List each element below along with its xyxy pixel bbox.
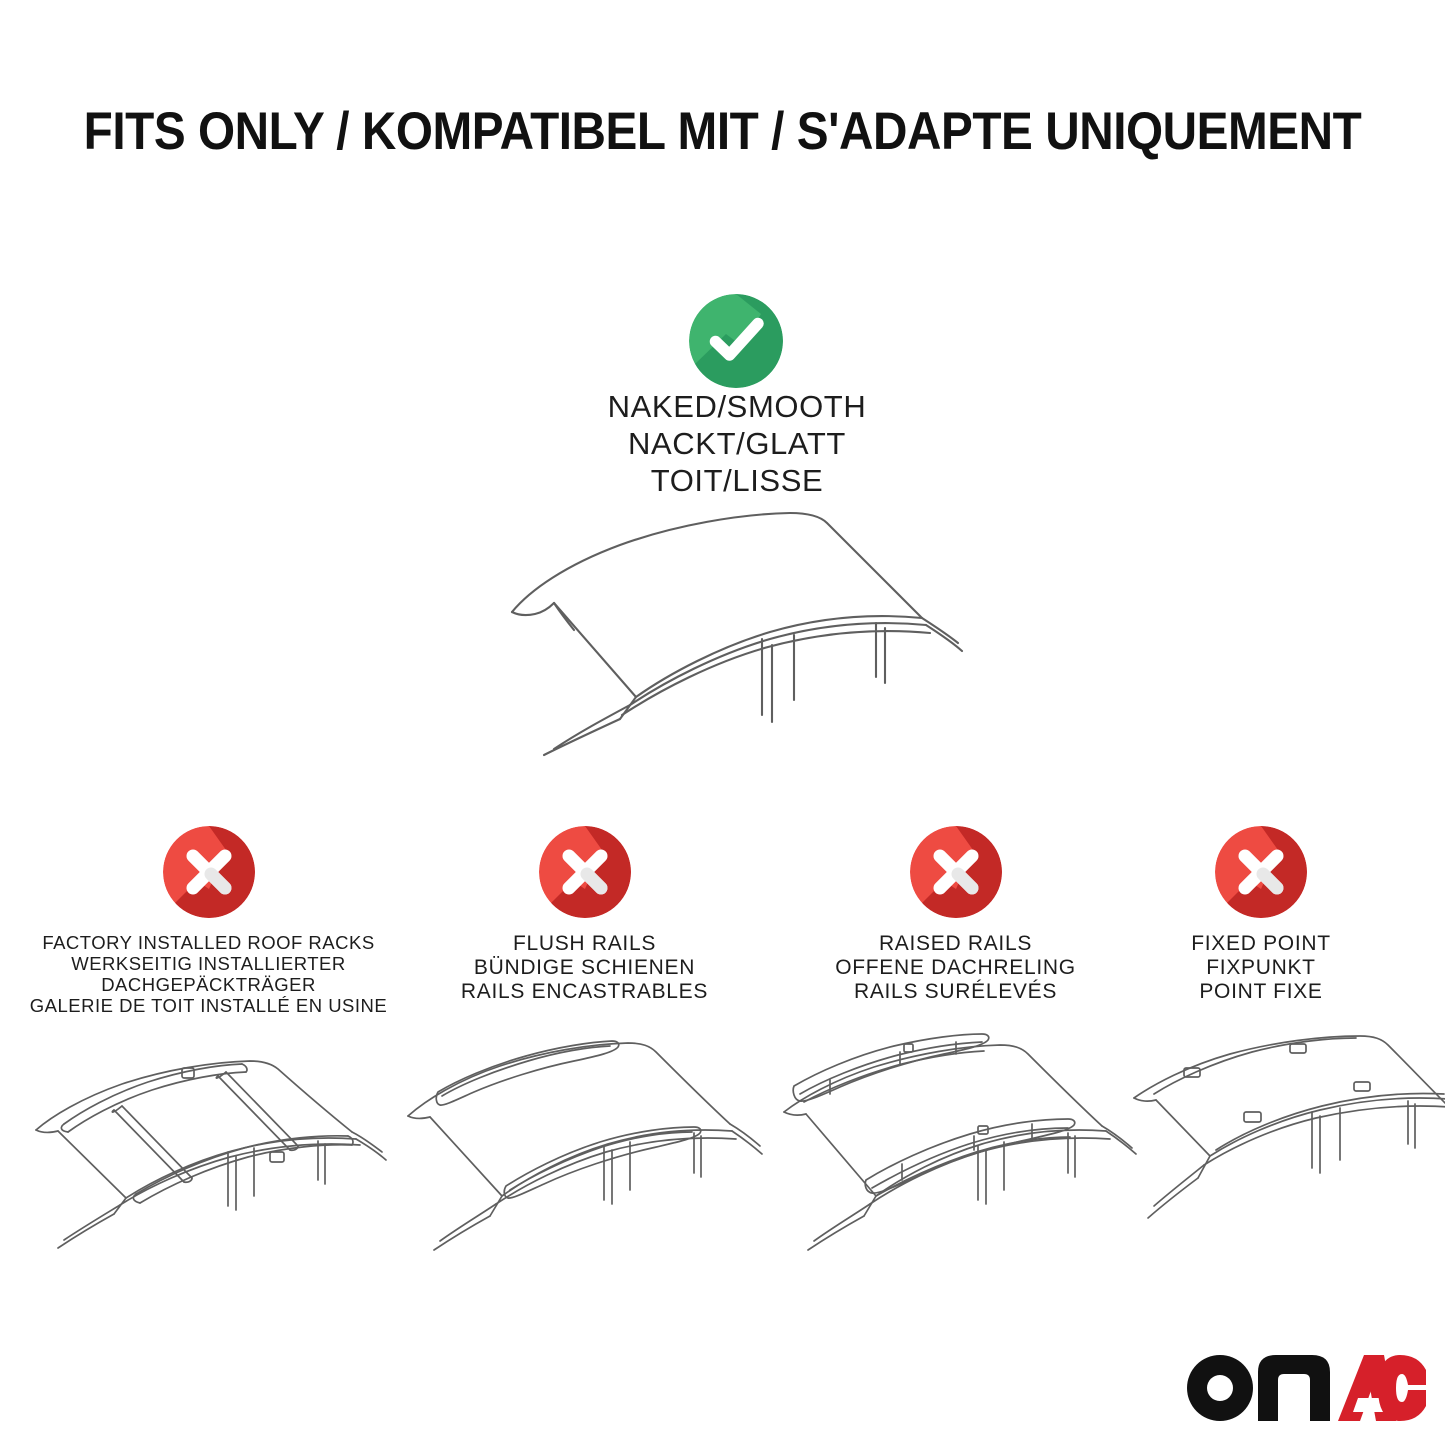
incompatible-item-factory-roof-racks: FACTORY INSTALLED ROOF RACKS WERKSEITIG …	[28, 826, 389, 1016]
omac-logo-svg	[1186, 1352, 1426, 1424]
logo-letter-o	[1187, 1355, 1253, 1421]
cross-circle-icon	[910, 826, 1002, 918]
incompatible-labels: RAISED RAILS OFFENE DACHRELING RAILS SUR…	[775, 932, 1136, 1004]
incompatible-label-en: FACTORY INSTALLED ROOF RACKS	[28, 932, 389, 953]
incompatible-label-fr: RAILS SURÉLEVÉS	[775, 980, 1136, 1004]
incompatible-label-de: FIXPUNKT	[1096, 956, 1426, 980]
cross-circle-icon	[1215, 826, 1307, 918]
omac-logo	[1186, 1352, 1426, 1424]
cross-circle-icon	[539, 826, 631, 918]
incompatible-section: FACTORY INSTALLED ROOF RACKS WERKSEITIG …	[0, 0, 1445, 1445]
incompatible-label-de: OFFENE DACHRELING	[775, 956, 1136, 980]
incompatible-labels: FIXED POINT FIXPUNKT POINT FIXE	[1096, 932, 1426, 1004]
incompatible-label-fr: RAILS ENCASTRABLES	[404, 980, 765, 1004]
cross-circle-svg	[539, 826, 631, 918]
car-roof-factory-roof-racks-illustration	[22, 1028, 402, 1253]
incompatible-item-fixed-point: FIXED POINT FIXPUNKT POINT FIXE	[1096, 826, 1426, 1004]
cross-circle-icon	[163, 826, 255, 918]
incompatible-label-de: BÜNDIGE SCHIENEN	[404, 956, 765, 980]
car-roof-raised-rails-illustration	[770, 1028, 1150, 1253]
incompatible-label-de-1: WERKSEITIG INSTALLIERTER	[28, 953, 389, 974]
cross-circle-svg	[1215, 826, 1307, 918]
incompatible-label-en: FIXED POINT	[1096, 932, 1426, 956]
incompatible-item-flush-rails: FLUSH RAILS BÜNDIGE SCHIENEN RAILS ENCAS…	[404, 826, 765, 1004]
car-roof-fixed-point-illustration	[1106, 1028, 1445, 1253]
incompatible-label-de-2: DACHGEPÄCKTRÄGER	[28, 974, 389, 995]
logo-letter-m	[1258, 1355, 1330, 1421]
incompatible-label-fr: POINT FIXE	[1096, 980, 1426, 1004]
incompatible-labels: FLUSH RAILS BÜNDIGE SCHIENEN RAILS ENCAS…	[404, 932, 765, 1004]
incompatible-item-raised-rails: RAISED RAILS OFFENE DACHRELING RAILS SUR…	[775, 826, 1136, 1004]
logo-letter-c	[1378, 1355, 1426, 1421]
incompatible-label-en: FLUSH RAILS	[404, 932, 765, 956]
incompatible-label-en: RAISED RAILS	[775, 932, 1136, 956]
car-roof-flush-rails-illustration	[398, 1028, 778, 1253]
cross-circle-svg	[910, 826, 1002, 918]
cross-circle-svg	[163, 826, 255, 918]
incompatible-label-fr: GALERIE DE TOIT INSTALLÉ EN USINE	[28, 995, 389, 1016]
incompatible-labels: FACTORY INSTALLED ROOF RACKS WERKSEITIG …	[28, 932, 389, 1016]
